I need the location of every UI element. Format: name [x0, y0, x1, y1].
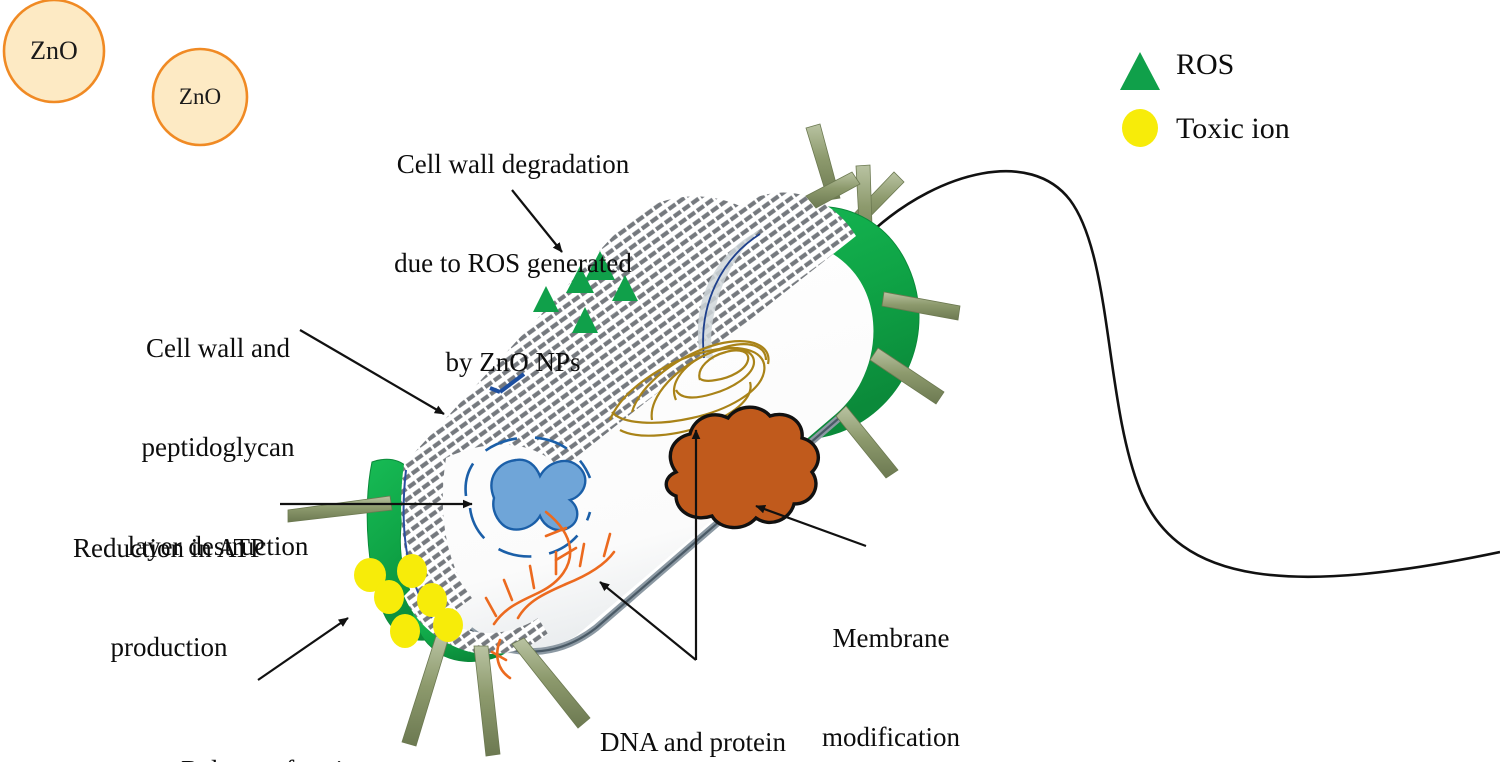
annotation-dna-protein-degradation: DNA and protein degradation [557, 660, 829, 762]
annotation-line: Cell wall degradation [358, 148, 668, 181]
annotation-line: Cell wall and [92, 332, 344, 365]
legend-label-toxic-ion: Toxic ion [1176, 112, 1290, 145]
annotation-line: modification [795, 721, 987, 754]
annotation-line: production [40, 631, 298, 664]
annotation-membrane-modification: Membrane modification [795, 556, 987, 762]
annotation-line: Reduction in ATP [40, 532, 298, 565]
legend-triangle-icon [1120, 52, 1160, 90]
annotation-line: by ZnO NPs [358, 346, 668, 379]
annotation-line: Membrane [795, 622, 987, 655]
annotation-line: peptidoglycan [92, 431, 344, 464]
annotation-toxic-ion-release: Release of toxic ions from ZnO NPs [118, 688, 418, 762]
annotation-cell-wall-degradation: Cell wall degradation due to ROS generat… [358, 82, 668, 444]
figure-canvas: ZnO ZnO ROS Toxic ion Cell wall degradat… [0, 0, 1500, 762]
annotation-line: DNA and protein [557, 726, 829, 759]
legend-circle-icon [1122, 109, 1158, 147]
legend-label-ros: ROS [1176, 48, 1234, 81]
annotation-line: due to ROS generated [358, 247, 668, 280]
annotation-line: Release of toxic [118, 754, 418, 762]
